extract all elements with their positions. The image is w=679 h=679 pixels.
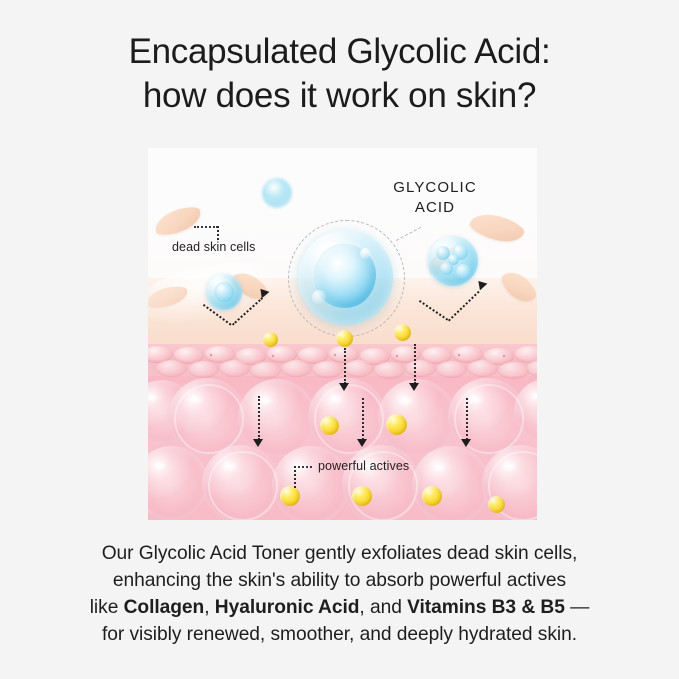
active-molecule bbox=[352, 486, 372, 506]
granule-nucleus bbox=[396, 355, 398, 357]
ingredient-vitamins-b3-b5: Vitamins B3 & B5 bbox=[407, 597, 565, 618]
dermal-sphere-ring bbox=[174, 384, 244, 454]
glycolic-acid-capsule-highlight bbox=[312, 290, 326, 304]
granule-cell bbox=[436, 361, 467, 378]
active-molecule bbox=[263, 332, 278, 347]
page-title-line-2: how does it work on skin? bbox=[0, 74, 679, 118]
description-line-3-pre: like bbox=[90, 597, 124, 618]
skin-cross-section-diagram: GLYCOLIC ACID dead skin cells bbox=[148, 148, 537, 520]
granule-cell bbox=[312, 361, 343, 378]
granule-cell bbox=[467, 360, 498, 377]
powerful-actives-leader-vertical bbox=[294, 466, 296, 488]
penetration-arrow-head bbox=[339, 383, 349, 391]
penetration-arrow-line bbox=[414, 344, 416, 384]
penetration-arrow-head bbox=[461, 439, 471, 447]
glycolic-acid-label-line-1: GLYCOLIC bbox=[393, 179, 477, 196]
granule-cell bbox=[405, 360, 436, 377]
dead-skin-cells-leader-vertical bbox=[217, 226, 219, 240]
penetration-arrow-head bbox=[357, 439, 367, 447]
dermal-sphere-ring bbox=[208, 451, 278, 520]
description-line-4: for visibly renewed, smoother, and deepl… bbox=[46, 622, 633, 649]
exfoliating-capsule-left bbox=[206, 274, 242, 310]
ingredient-hyaluronic-acid: Hyaluronic Acid bbox=[215, 597, 360, 618]
soft-blue-bubble bbox=[262, 178, 292, 208]
granule-nucleus bbox=[272, 355, 274, 357]
granule-cell bbox=[156, 360, 187, 377]
glycolic-acid-capsule bbox=[298, 230, 393, 325]
penetration-arrow-line bbox=[466, 398, 468, 440]
active-molecule bbox=[280, 486, 300, 506]
description-line-2: enhancing the skin's ability to absorb p… bbox=[46, 568, 633, 595]
description-line-3-sep-1: , bbox=[204, 597, 215, 618]
active-molecule bbox=[394, 324, 411, 341]
active-molecule bbox=[386, 414, 407, 435]
dermal-sphere bbox=[272, 446, 350, 520]
active-molecule bbox=[488, 496, 505, 513]
capsule-inner-bead bbox=[456, 264, 471, 279]
description-line-3-post: — bbox=[565, 597, 589, 618]
page-title: Encapsulated Glycolic Acid: how does it … bbox=[0, 30, 679, 119]
penetration-arrow-head bbox=[253, 439, 263, 447]
description-text: Our Glycolic Acid Toner gently exfoliate… bbox=[0, 541, 679, 649]
granule-cell bbox=[188, 361, 219, 378]
granule-cell bbox=[281, 360, 312, 377]
granule-nucleus bbox=[458, 354, 460, 356]
active-molecule bbox=[422, 486, 442, 506]
dead-skin-cells-leader-horizontal bbox=[194, 226, 218, 228]
penetration-arrow-line bbox=[344, 348, 346, 384]
penetration-arrow-line bbox=[362, 398, 364, 440]
granule-nucleus bbox=[210, 354, 212, 356]
active-molecule bbox=[336, 330, 353, 347]
glycolic-acid-capsule-highlight bbox=[360, 248, 371, 259]
granule-cell bbox=[219, 360, 250, 377]
granule-cell bbox=[250, 362, 281, 379]
description-line-3-sep-2: , and bbox=[359, 597, 407, 618]
penetration-arrow-head bbox=[409, 383, 419, 391]
glycolic-acid-label-line-2: ACID bbox=[415, 199, 455, 216]
capsule-inner-bead bbox=[448, 254, 459, 265]
dermal-sphere bbox=[412, 446, 490, 520]
granule-nucleus bbox=[503, 355, 505, 357]
exfoliating-capsule-right bbox=[428, 236, 478, 286]
dead-skin-cells-label: dead skin cells bbox=[172, 240, 256, 254]
granule-cell bbox=[498, 362, 529, 379]
active-molecule bbox=[320, 416, 339, 435]
granule-nucleus bbox=[334, 354, 336, 356]
granule-cell bbox=[343, 360, 374, 377]
exfoliating-capsule-left-core bbox=[214, 282, 234, 302]
granule-cell bbox=[374, 362, 405, 379]
page-title-line-1: Encapsulated Glycolic Acid: bbox=[0, 30, 679, 74]
description-line-1: Our Glycolic Acid Toner gently exfoliate… bbox=[46, 541, 633, 568]
glycolic-acid-label: GLYCOLIC ACID bbox=[370, 178, 500, 219]
powerful-actives-label: powerful actives bbox=[318, 459, 409, 473]
powerful-actives-leader-horizontal bbox=[294, 466, 312, 468]
penetration-arrow-line bbox=[258, 396, 260, 440]
description-line-3: like Collagen, Hyaluronic Acid, and Vita… bbox=[46, 595, 633, 622]
ingredient-collagen: Collagen bbox=[124, 597, 205, 618]
